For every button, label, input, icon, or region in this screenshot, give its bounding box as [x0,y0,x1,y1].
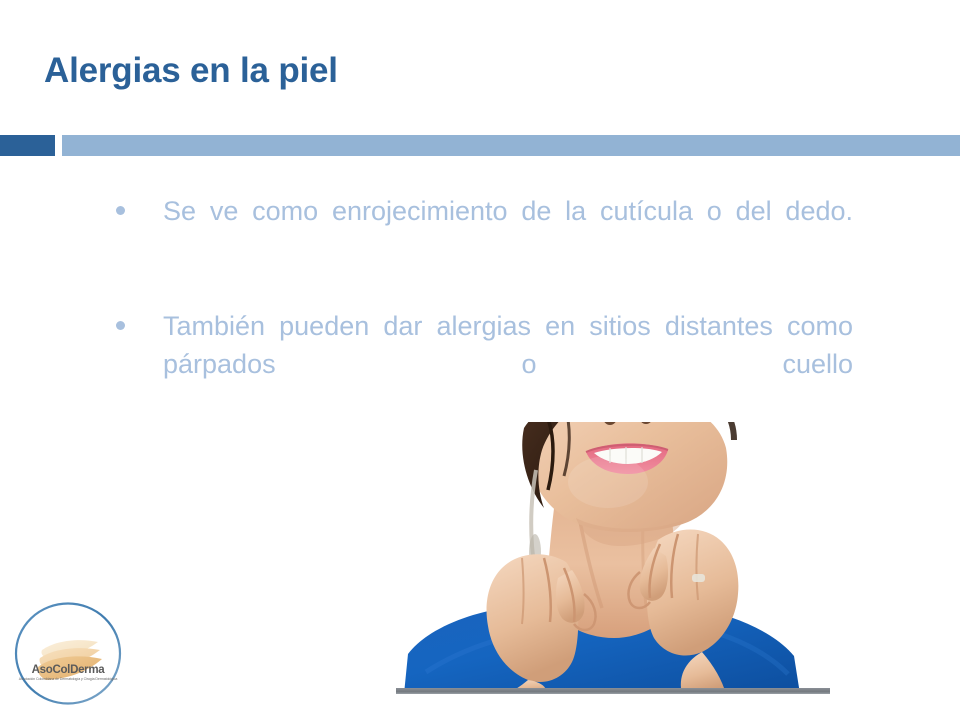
photo-illustration [396,422,830,694]
divider-bar [62,135,960,156]
bullet-dot-icon [116,206,125,215]
list-item: También pueden dar alergias en sitios di… [108,307,853,422]
slide-canvas: Alergias en la piel Se ve como enrojecim… [0,0,960,720]
bullet-dot-icon [116,321,125,330]
woman-scratching-neck-photo [396,422,830,694]
logo-subtitle-text: Asociación Colombiana de Dermatología y … [18,677,118,682]
bullet-list: Se ve como enrojecimiento de la cutícula… [108,192,853,422]
logo-name-text: AsoColDerma [12,664,124,676]
bullet-text: También pueden dar alergias en sitios di… [163,307,853,422]
asocolderma-logo: AsoColDerma Asociación Colombiana de Der… [12,600,127,710]
title-divider [0,135,960,156]
list-item: Se ve como enrojecimiento de la cutícula… [108,192,853,269]
logo-circle-icon [12,600,124,707]
bullet-text: Se ve como enrojecimiento de la cutícula… [163,192,853,269]
divider-accent-block [0,135,55,156]
photo-shadow-bar [396,688,830,694]
slide-title: Alergias en la piel [44,50,864,92]
